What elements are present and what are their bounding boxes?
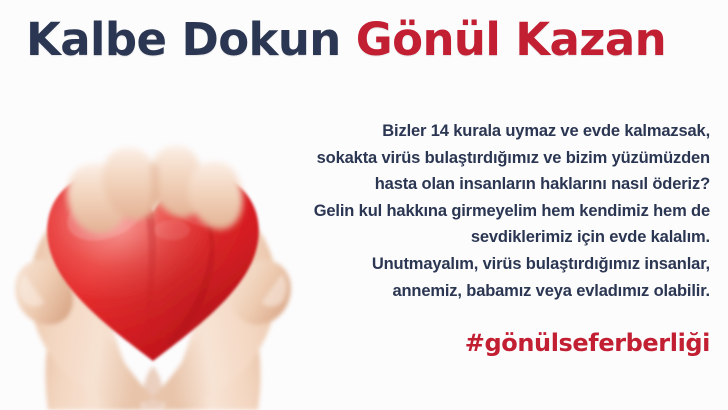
body-line: Gelin kul hakkına girmeyelim hem kendimi… (270, 198, 710, 225)
campaign-hashtag: #gönülseferberliği (270, 328, 710, 358)
page-title: Kalbe Dokun Gönül Kazan (26, 12, 716, 68)
body-line: Bizler 14 kurala uymaz ve evde kalmazsak… (270, 118, 710, 145)
body-line: sokakta virüs bulaştırdığımız ve bizim y… (270, 145, 710, 172)
body-line: Unutmayalım, virüs bulaştırdığımız insan… (270, 251, 710, 278)
poster-canvas: Kalbe Dokun Gönül Kazan (0, 0, 728, 410)
heart-illustration (0, 78, 312, 410)
hands-holding-heart-image (0, 78, 312, 410)
page-title-accent: Gönül Kazan (356, 13, 666, 66)
body-line: hasta olan insanların haklarını nasıl öd… (270, 171, 710, 198)
page-title-primary: Kalbe Dokun (26, 13, 356, 66)
body-line: annemiz, babamız veya evladımız olabilir… (270, 278, 710, 305)
body-copy: Bizler 14 kurala uymaz ve evde kalmazsak… (270, 118, 710, 304)
body-line: sevdiklerimiz için evde kalalım. (270, 224, 710, 251)
